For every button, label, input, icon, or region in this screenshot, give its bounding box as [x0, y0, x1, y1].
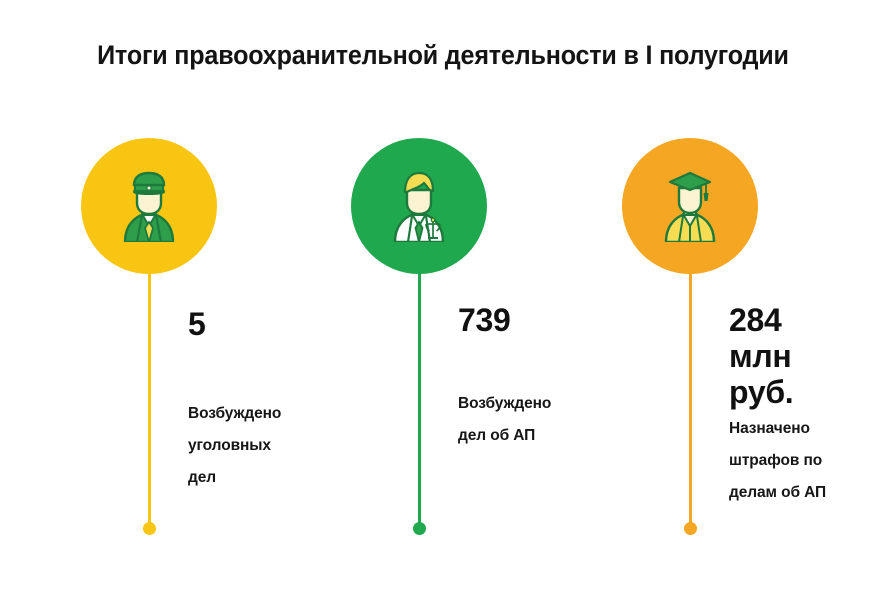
- connector-end-dot: [143, 522, 156, 535]
- stat-value: 739: [458, 303, 511, 339]
- stat-column-fines-assigned: 284 млн руб. Назначено штрафов по делам …: [565, 0, 815, 590]
- infographic-canvas: Итоги правоохранительной деятельности в …: [0, 0, 886, 590]
- graduate-icon: [656, 170, 724, 242]
- stat-column-administrative-cases: 739 Возбуждено дел об АП: [294, 0, 544, 590]
- stat-value: 284 млн руб.: [729, 303, 815, 410]
- stat-value: 5: [188, 307, 206, 343]
- icon-medallion: [81, 138, 217, 274]
- stat-caption: Назначено штрафов по делам об АП: [729, 413, 886, 508]
- icon-medallion: [622, 138, 758, 274]
- connector-end-dot: [413, 522, 426, 535]
- officer-icon: [115, 170, 183, 242]
- connector-end-dot: [684, 522, 697, 535]
- stat-column-criminal-cases: 5 Возбуждено уголовных дел: [24, 0, 274, 590]
- lawyer-scales-icon: [385, 170, 453, 242]
- icon-medallion: [351, 138, 487, 274]
